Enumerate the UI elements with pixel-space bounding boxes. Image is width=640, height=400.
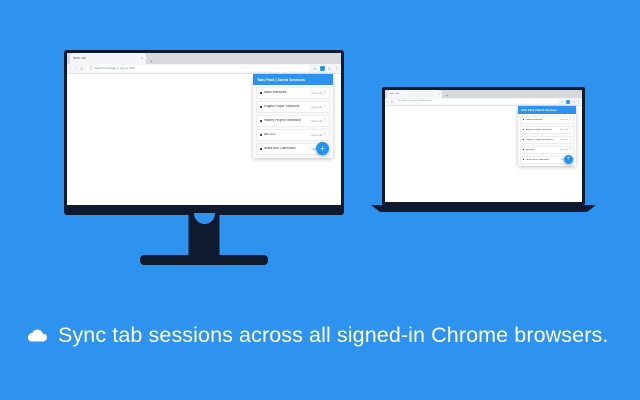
browser-window-desktop: New Tab × + ‹ › ↻ ⓘ Search Google or typ… — [67, 53, 341, 205]
extension-icon[interactable] — [320, 66, 325, 71]
browser-tab[interactable]: New Tab × — [70, 53, 146, 64]
session-name: Bio 201 — [526, 149, 559, 152]
list-item[interactable]: English Paper Sessions Open all × — [256, 101, 330, 113]
address-bar-text: Search Google or type a URL — [401, 100, 432, 102]
bullet-icon — [260, 134, 262, 136]
laptop-bezel: New Tab × + ‹ ↻ ⓘ Search Google or type … — [382, 87, 585, 205]
laptop-device: New Tab × + ‹ ↻ ⓘ Search Google or type … — [382, 87, 585, 205]
navigation-icons: ‹ › ↻ — [70, 67, 83, 71]
session-name: History Project Research — [264, 119, 310, 122]
laptop-base — [371, 205, 596, 212]
list-item[interactable]: History Project Research Open all × — [520, 136, 574, 145]
tab-title: New Tab — [389, 93, 399, 96]
browser-tab[interactable]: New Tab × — [387, 90, 442, 98]
site-info-icon[interactable]: ⓘ — [89, 67, 92, 70]
back-icon[interactable]: ‹ — [387, 100, 388, 104]
list-item[interactable]: Nasa Websites Open all × — [520, 116, 574, 125]
extension-popup: Tabs Pack | Saved Sessions Nasa Websites… — [253, 74, 333, 158]
site-info-icon[interactable]: ⓘ — [397, 100, 400, 103]
open-all-button[interactable]: Open all — [311, 134, 322, 137]
open-all-button[interactable]: Open all — [311, 92, 322, 95]
menu-icon[interactable]: ⋮ — [334, 66, 338, 71]
session-name: Bio 201 — [264, 133, 310, 136]
back-icon[interactable]: ‹ — [70, 67, 71, 71]
browser-toolbar: ‹ › ↻ ⓘ Search Google or type a URL ☆ □ … — [67, 64, 341, 74]
close-icon[interactable]: × — [569, 138, 571, 141]
monitor-stand-base — [140, 255, 268, 265]
bullet-icon — [523, 159, 524, 160]
address-bar[interactable]: ⓘ Search Google or type a URL — [395, 99, 559, 104]
bookmark-star-icon[interactable]: ☆ — [561, 100, 564, 104]
toolbar-actions: ☆ □ ⋮ — [561, 100, 580, 104]
add-session-button[interactable]: + — [316, 142, 329, 155]
tab-strip: New Tab × + — [67, 53, 341, 64]
bullet-icon — [260, 106, 262, 108]
close-icon[interactable]: × — [324, 119, 326, 122]
bullet-icon — [260, 120, 262, 122]
open-all-button[interactable]: Open all — [560, 129, 568, 131]
close-icon[interactable]: × — [324, 91, 326, 94]
toolbar-actions: ☆ □ ⋮ — [313, 66, 338, 71]
page-viewport: Tabs Pack | Saved Sessions Nasa Websites… — [385, 106, 582, 202]
monitor-bezel: New Tab × + ‹ › ↻ ⓘ Search Google or typ… — [64, 50, 344, 215]
popup-title: Tabs Pack | Saved Sessions — [518, 106, 576, 114]
address-bar[interactable]: ⓘ Search Google or type a URL — [86, 65, 310, 72]
tab-title: New Tab — [73, 57, 86, 60]
extension-popup: Tabs Pack | Saved Sessions Nasa Websites… — [518, 106, 576, 166]
list-item[interactable]: Bio 201 Open all × — [256, 129, 330, 141]
tab-close-icon[interactable]: × — [141, 57, 143, 61]
bullet-icon — [523, 149, 524, 150]
open-all-button[interactable]: Open all — [560, 149, 568, 151]
session-name: Nasa Websites — [264, 91, 310, 94]
navigation-icons: ‹ ↻ — [387, 100, 393, 104]
tab-close-icon[interactable]: × — [438, 93, 440, 96]
close-icon[interactable]: × — [324, 105, 326, 108]
bookmark-star-icon[interactable]: ☆ — [313, 66, 316, 71]
list-item[interactable]: Nasa Websites Open all × — [256, 87, 330, 99]
bullet-icon — [523, 119, 524, 120]
caption-text: Sync tab sessions across all signed-in C… — [58, 323, 608, 348]
close-icon[interactable]: × — [569, 128, 571, 131]
list-item[interactable]: English Paper Sessions Open all × — [520, 126, 574, 135]
tab-strip: New Tab × + — [385, 90, 582, 98]
bullet-icon — [523, 129, 524, 130]
add-session-button[interactable]: + — [564, 155, 574, 165]
list-item[interactable]: History Project Research Open all × — [256, 115, 330, 127]
page-viewport: Tabs Pack | Saved Sessions Nasa Websites… — [67, 74, 341, 205]
popup-title: Tabs Pack | Saved Sessions — [253, 74, 333, 85]
profile-icon[interactable]: □ — [573, 100, 575, 104]
bullet-icon — [523, 139, 524, 140]
close-icon[interactable]: × — [569, 118, 571, 121]
list-item[interactable]: Bio 201 Open all × — [520, 146, 574, 155]
address-bar-text: Search Google or type a URL — [95, 67, 136, 70]
monitor-stand-neck — [189, 213, 220, 258]
open-all-button[interactable]: Open all — [560, 119, 568, 121]
session-name: English Paper Sessions — [526, 129, 559, 132]
menu-icon[interactable]: ⋮ — [577, 100, 580, 104]
caption: Sync tab sessions across all signed-in C… — [27, 323, 608, 348]
reload-icon[interactable]: ↻ — [80, 67, 83, 71]
reload-icon[interactable]: ↻ — [391, 100, 393, 104]
forward-icon[interactable]: › — [75, 67, 76, 71]
bullet-icon — [260, 92, 262, 94]
extension-icon[interactable] — [566, 100, 570, 104]
close-icon[interactable]: × — [569, 148, 571, 151]
open-all-button[interactable]: Open all — [560, 139, 568, 141]
open-all-button[interactable]: Open all — [311, 106, 322, 109]
close-icon[interactable]: × — [324, 133, 326, 136]
session-name: English Paper Sessions — [264, 105, 310, 108]
session-name: Notes and Calendars — [526, 159, 559, 162]
open-all-button[interactable]: Open all — [311, 120, 322, 123]
cloud-icon — [27, 329, 47, 342]
desktop-monitor: New Tab × + ‹ › ↻ ⓘ Search Google or typ… — [64, 50, 344, 215]
profile-icon[interactable]: □ — [328, 67, 330, 71]
browser-toolbar: ‹ ↻ ⓘ Search Google or type a URL ☆ □ ⋮ — [385, 98, 582, 106]
session-name: History Project Research — [526, 139, 559, 142]
session-name: Notes and Calendars — [264, 147, 310, 150]
bullet-icon — [260, 148, 262, 150]
session-name: Nasa Websites — [526, 119, 559, 122]
browser-window-laptop: New Tab × + ‹ ↻ ⓘ Search Google or type … — [385, 90, 582, 202]
